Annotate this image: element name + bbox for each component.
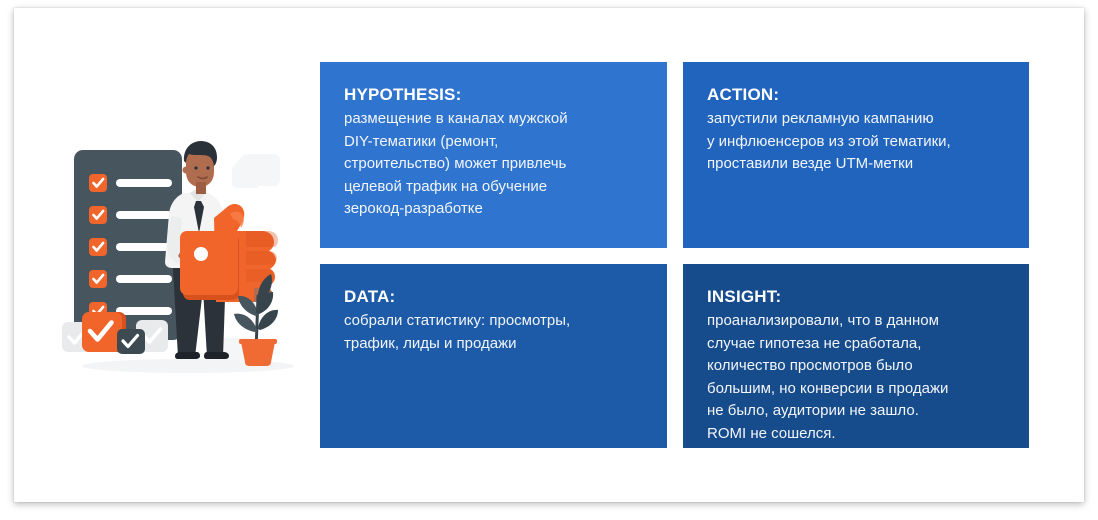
card-hypothesis-body: размещение в каналах мужской DIY-тематик… [344,108,643,221]
card-data-body: собрали статистику: просмотры, трафик, л… [344,310,643,355]
thumbs-up-palm [180,231,238,295]
insight-cards-grid: HYPOTHESIS: размещение в каналах мужской… [320,62,1034,446]
card-hypothesis-title: HYPOTHESIS: [344,84,643,106]
thumbs-up-palm-dot [194,247,208,261]
card-insight-title: INSIGHT: [707,286,1005,308]
checklist-thumbs-up-illustration [60,130,310,380]
person-ear [183,167,190,174]
person-shoe-left [175,352,200,359]
card-data: DATA: собрали статистику: просмотры, тра… [320,264,667,448]
card-action-title: ACTION: [707,84,1005,106]
checklist-board-icon [74,150,182,340]
card-insight-body: проанализировали, что в данном случае ги… [707,310,1005,445]
plant-pot [241,342,275,366]
person-eye-left [194,166,197,169]
card-insight: INSIGHT: проанализировали, что в данном … [683,264,1029,448]
card-data-title: DATA: [344,286,643,308]
person-shoe-right [204,352,229,359]
card-action-body: запустили рекламную кампанию у инфлюенсе… [707,108,1005,176]
person-eye-right [206,166,209,169]
plant-pot-rim [239,339,277,344]
person-neck [196,182,206,194]
card-hypothesis: HYPOTHESIS: размещение в каналах мужской… [320,62,667,248]
slide-frame: HYPOTHESIS: размещение в каналах мужской… [14,8,1084,502]
plant-leaf-left-2 [234,314,257,332]
background-thumbs-up-icon [232,154,280,188]
checkbox-slate [117,329,145,354]
card-action: ACTION: запустили рекламную кампанию у и… [683,62,1029,248]
